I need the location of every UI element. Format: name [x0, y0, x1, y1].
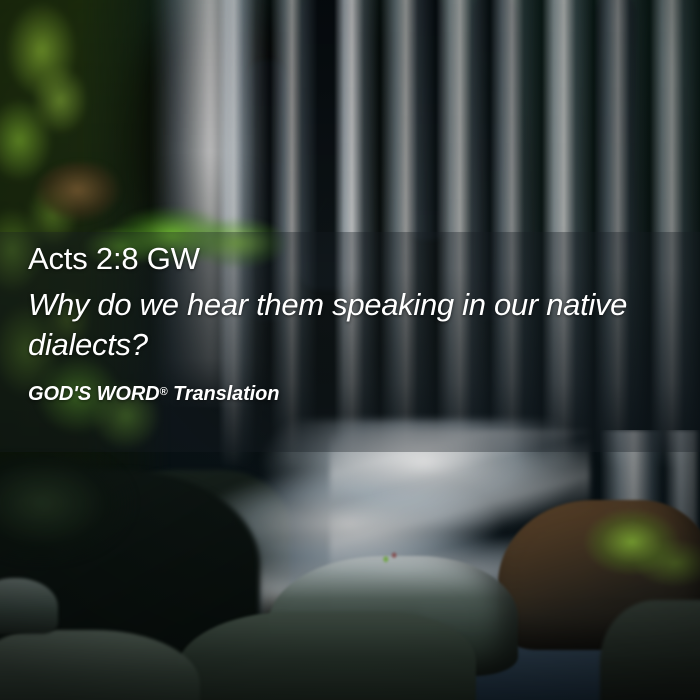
verse-body-text: Why do we hear them speaking in our nati… [28, 287, 627, 362]
plant-sprig [378, 548, 404, 564]
verse-text-block: Acts 2:8 GW Why do we hear them speaking… [28, 240, 676, 407]
verse-image-canvas: Acts 2:8 GW Why do we hear them speaking… [0, 0, 700, 700]
registered-trademark-icon: ® [160, 386, 168, 398]
left-lower-rock-highlight [0, 455, 150, 575]
translation-credit: GOD'S WORD® Translation [28, 379, 676, 407]
verse-body: Why do we hear them speaking in our nati… [28, 285, 653, 365]
verse-reference: Acts 2:8 GW [28, 240, 676, 278]
foreground-boulder [176, 612, 476, 700]
translation-name: GOD'S WORD [28, 383, 160, 405]
translation-suffix: Translation [168, 383, 280, 405]
